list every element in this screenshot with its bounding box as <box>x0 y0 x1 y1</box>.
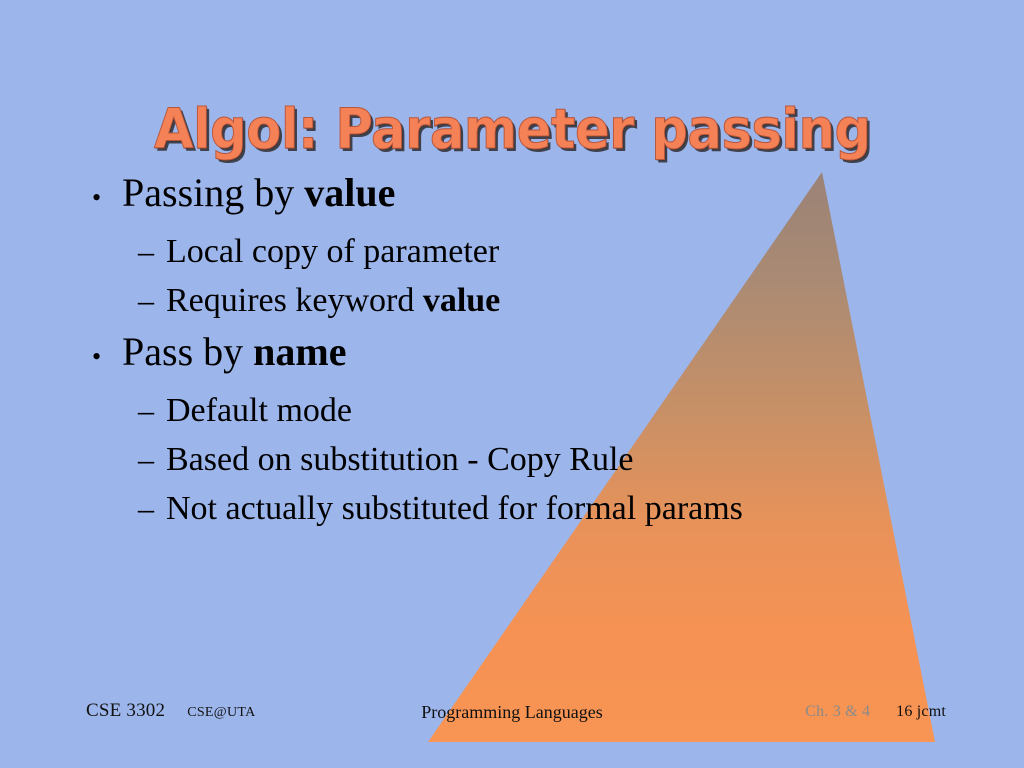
list-item-text-lead: Requires keyword <box>166 282 423 319</box>
list-item-text-emphasis: name <box>253 329 346 374</box>
list-item-label: Local copy of parameter <box>166 227 499 276</box>
list-item: • Passing by value <box>78 166 978 225</box>
list-item-label: Based on substitution - Copy Rule <box>166 435 634 484</box>
list-item-text-lead: Default mode <box>166 392 352 429</box>
list-item-text-lead: Passing by <box>122 170 304 215</box>
slide-footer: CSE 3302 CSE@UTA Programming Languages C… <box>0 700 1024 734</box>
list-item-label: Requires keyword value <box>166 276 500 325</box>
list-item: – Based on substitution - Copy Rule <box>78 435 978 484</box>
list-item: – Default mode <box>78 386 978 435</box>
dash-marker-icon: – <box>138 276 166 325</box>
list-item-label: Passing by value <box>122 166 395 220</box>
list-item: – Requires keyword value <box>78 276 978 325</box>
page-title: Algol: Parameter passing <box>154 97 871 161</box>
list-item-text-emphasis: value <box>423 282 500 319</box>
dash-marker-icon: – <box>138 435 166 484</box>
dash-marker-icon: – <box>138 484 166 533</box>
list-item-text-emphasis: value <box>304 170 395 215</box>
list-item-label: Not actually substituted for formal para… <box>166 484 743 533</box>
list-item: • Pass by name <box>78 325 978 384</box>
list-item-label: Pass by name <box>122 325 346 379</box>
list-item-label: Default mode <box>166 386 352 435</box>
list-item: – Local copy of parameter <box>78 227 978 276</box>
dash-marker-icon: – <box>138 227 166 276</box>
footer-slide-number: 16 jcmt <box>896 703 946 721</box>
bullet-list: • Passing by value – Local copy of param… <box>78 166 978 533</box>
bullet-marker-icon: • <box>92 171 122 225</box>
list-item: – Not actually substituted for formal pa… <box>78 484 978 533</box>
slide-canvas: Algol: Parameter passing • Passing by va… <box>0 0 1024 768</box>
list-item-text-lead: Based on substitution - Copy Rule <box>166 441 634 478</box>
dash-marker-icon: – <box>138 386 166 435</box>
list-item-text-lead: Pass by <box>122 329 253 374</box>
bullet-marker-icon: • <box>92 330 122 384</box>
footer-course-title: Programming Languages <box>421 702 602 722</box>
footer-chapter-reference: Ch. 3 & 4 <box>805 703 870 721</box>
list-item-text-lead: Local copy of parameter <box>166 233 499 270</box>
footer-right-group: Ch. 3 & 4 16 jcmt <box>805 703 946 721</box>
list-item-text-lead: Not actually substituted for formal para… <box>166 490 743 527</box>
